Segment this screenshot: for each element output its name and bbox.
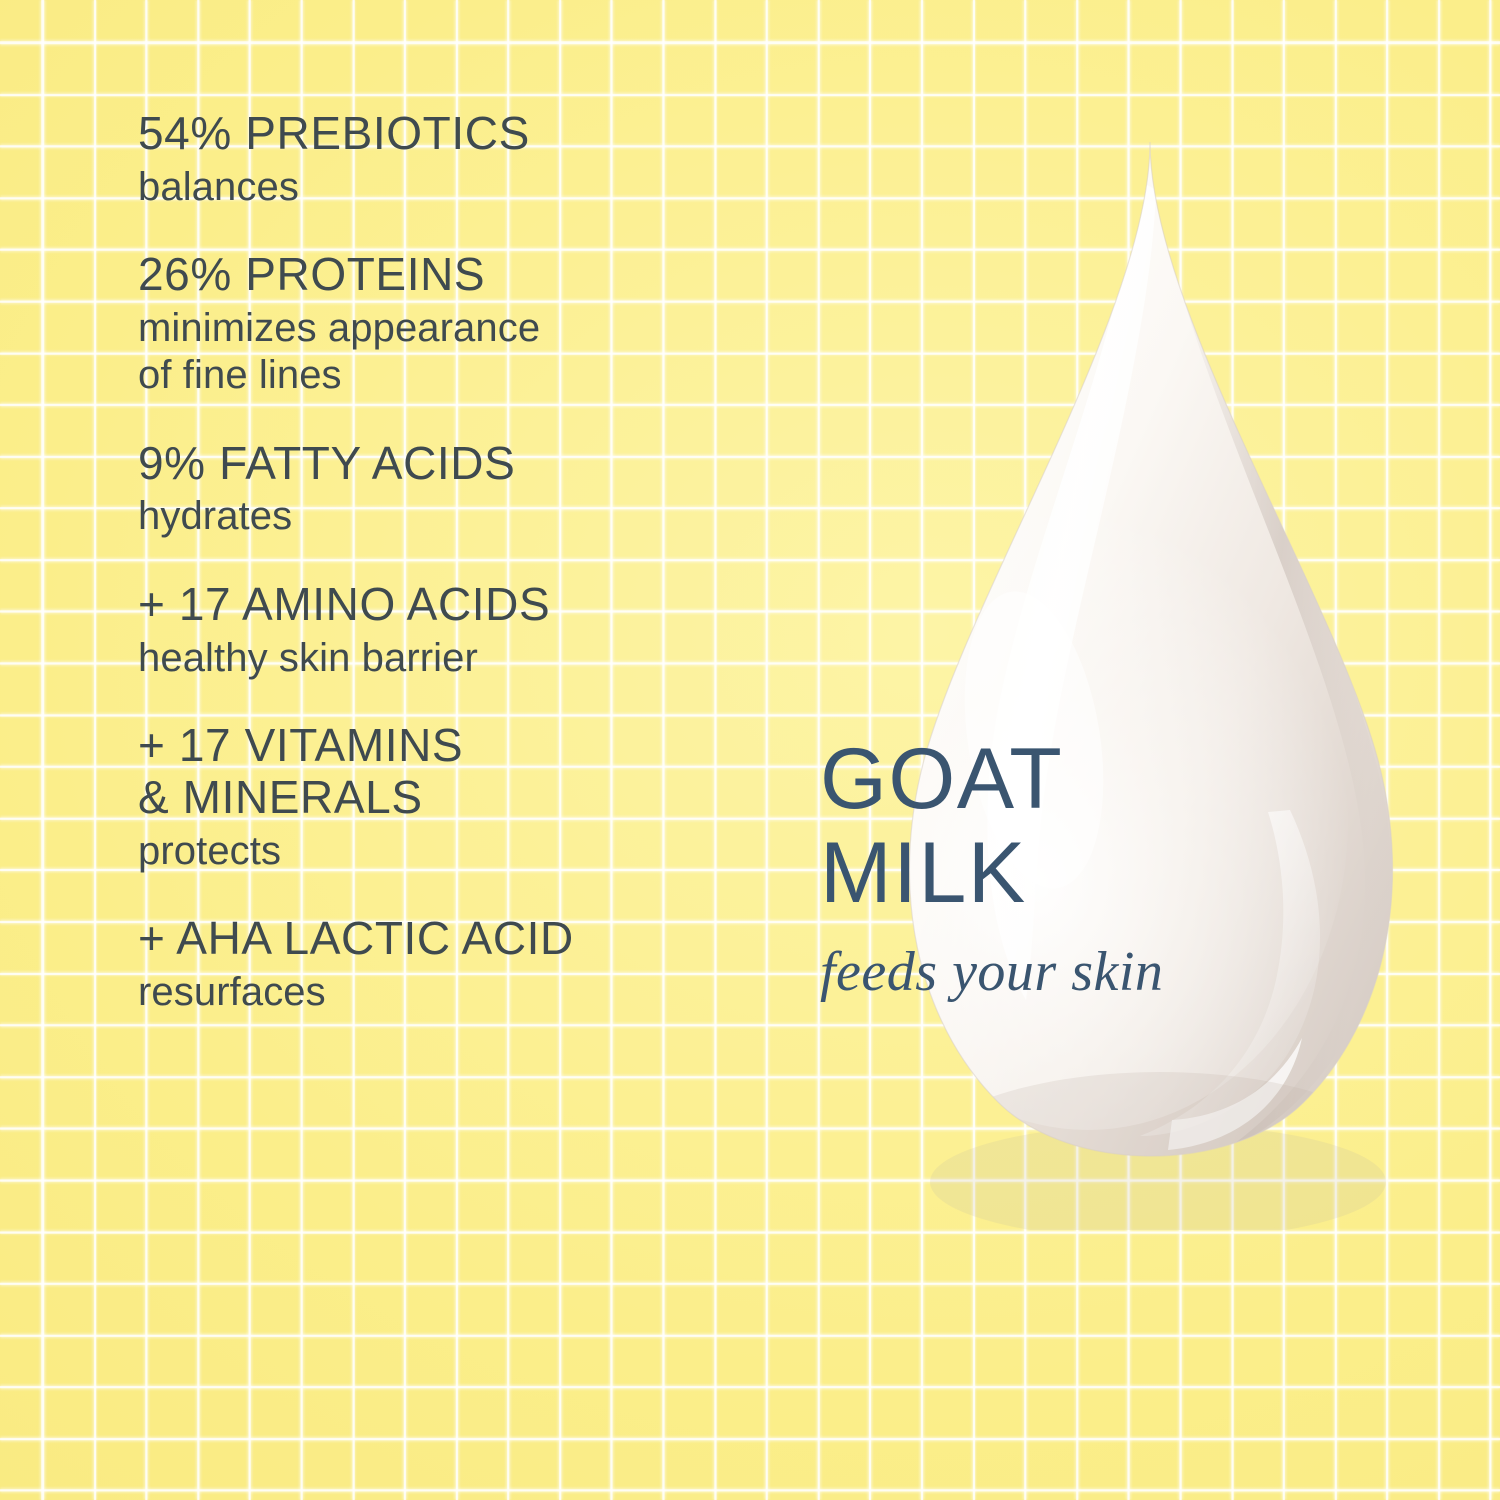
benefit-title: + 17 AMINO ACIDS (138, 579, 858, 631)
benefit-item-prebiotics: 54% PREBIOTICS balances (138, 108, 858, 211)
droplet-brand-line-1: GOAT (820, 738, 1480, 821)
benefit-description: healthy skin barrier (138, 635, 858, 682)
benefit-title: + 17 VITAMINS & MINERALS (138, 720, 858, 824)
droplet-tagline: feeds your skin (820, 940, 1480, 1004)
benefit-description: minimizes appearance of fine lines (138, 305, 858, 399)
benefit-description: resurfaces (138, 969, 858, 1016)
milk-droplet-graphic: GOAT MILK feeds your skin (820, 120, 1480, 1230)
droplet-icon (820, 120, 1480, 1230)
benefit-title: 54% PREBIOTICS (138, 108, 858, 160)
benefit-title: + AHA LACTIC ACID (138, 913, 858, 965)
benefit-title: 9% FATTY ACIDS (138, 438, 858, 490)
benefit-description: hydrates (138, 493, 858, 540)
benefit-title: 26% PROTEINS (138, 249, 858, 301)
product-infographic: 54% PREBIOTICS balances 26% PROTEINS min… (0, 0, 1500, 1500)
droplet-brand-line-2: MILK (820, 832, 1480, 915)
benefit-description: protects (138, 828, 858, 875)
benefit-item-fatty-acids: 9% FATTY ACIDS hydrates (138, 438, 858, 541)
benefit-item-proteins: 26% PROTEINS minimizes appearance of fin… (138, 249, 858, 399)
benefit-item-vitamins-minerals: + 17 VITAMINS & MINERALS protects (138, 720, 858, 875)
benefit-item-aha-lactic-acid: + AHA LACTIC ACID resurfaces (138, 913, 858, 1016)
benefit-item-amino-acids: + 17 AMINO ACIDS healthy skin barrier (138, 579, 858, 682)
benefit-description: balances (138, 164, 858, 211)
benefits-list: 54% PREBIOTICS balances 26% PROTEINS min… (138, 108, 858, 1016)
